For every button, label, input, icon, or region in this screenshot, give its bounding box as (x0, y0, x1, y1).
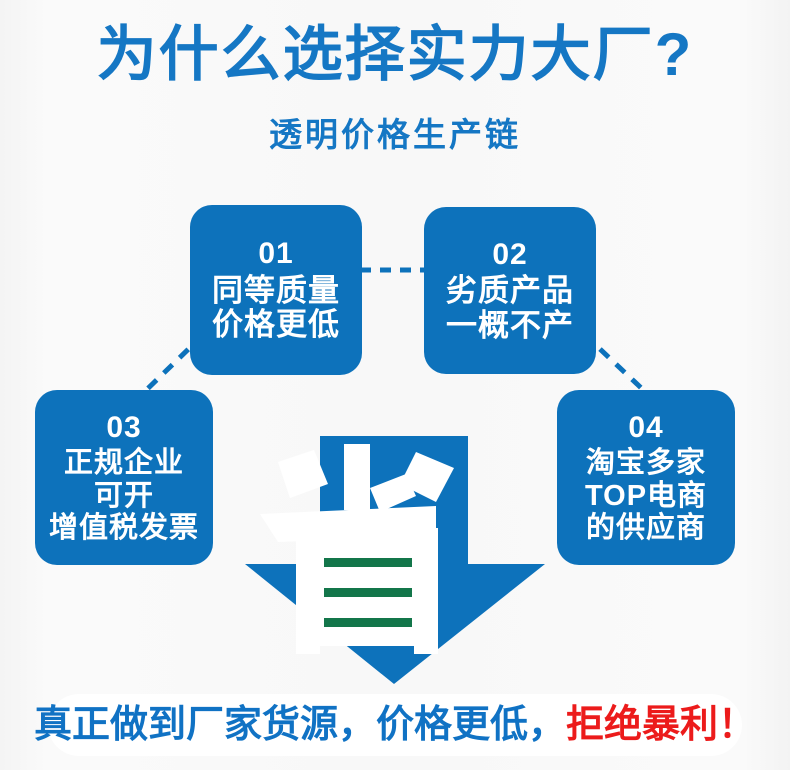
bottom-banner: 真正做到厂家货源，价格更低，拒绝暴利！ (0, 700, 790, 750)
connector-box01-box02 (358, 258, 430, 282)
feature-box-02[interactable]: 02 劣质产品 一概不产 (424, 207, 596, 374)
banner-blue-text: 真正做到厂家货源，价格更低， (34, 704, 566, 746)
page-subtitle: 透明价格生产链 (0, 115, 790, 155)
banner-red-text: 拒绝暴利！ (566, 704, 756, 746)
feature-box-02-line-1: 劣质产品 (446, 274, 574, 309)
feature-box-02-line-2: 一概不产 (446, 309, 574, 344)
feature-box-01-line-1: 同等质量 (212, 274, 340, 309)
feature-box-04-line-3: 的供应商 (586, 512, 706, 544)
feature-box-04[interactable]: 04 淘宝多家 TOP电商 的供应商 (557, 390, 735, 565)
feature-box-03-number: 03 (106, 411, 141, 446)
feature-box-04-line-1: 淘宝多家 (586, 447, 706, 479)
feature-box-01[interactable]: 01 同等质量 价格更低 (190, 205, 362, 375)
feature-box-01-number: 01 (258, 237, 293, 272)
down-arrow-icon (240, 436, 550, 686)
feature-box-04-number: 04 (628, 411, 663, 446)
feature-box-03-line-3: 增值税发票 (49, 512, 199, 544)
feature-box-01-line-2: 价格更低 (212, 308, 340, 343)
feature-box-04-line-2: TOP电商 (585, 480, 707, 512)
feature-box-02-number: 02 (492, 238, 527, 273)
page-title: 为什么选择实力大厂? (0, 22, 790, 88)
promo-poster: 为什么选择实力大厂? 透明价格生产链 01 同等质量 价格更低 02 劣质产品 … (0, 0, 790, 770)
feature-box-03-line-1: 正规企业 (64, 447, 184, 479)
feature-box-03-line-2: 可开 (94, 480, 154, 512)
feature-box-03[interactable]: 03 正规企业 可开 增值税发票 (35, 390, 213, 565)
